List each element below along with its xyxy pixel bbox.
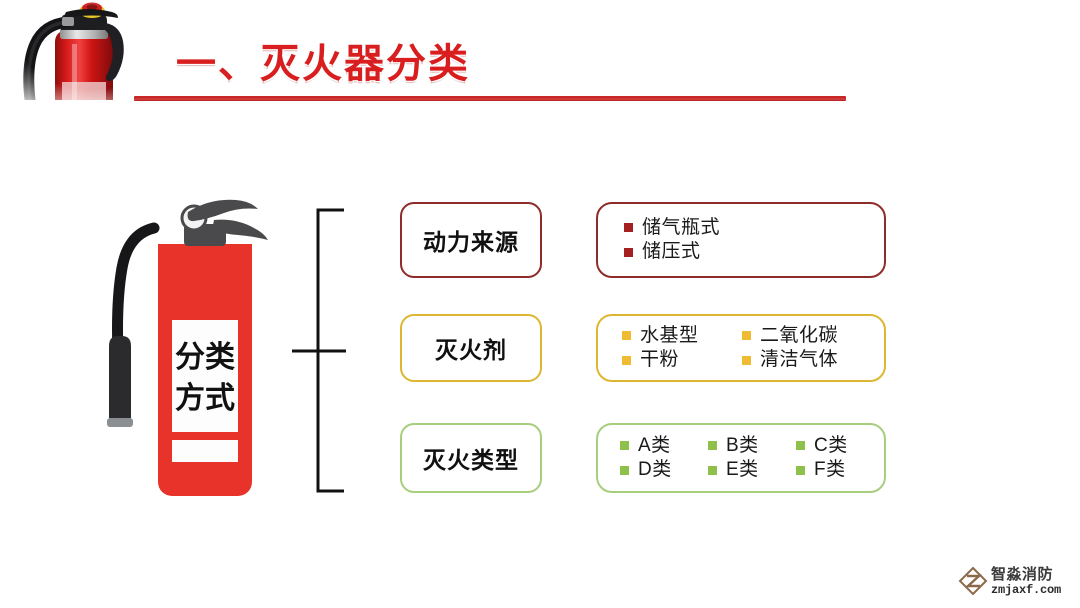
- list-item: 储气瓶式: [624, 217, 720, 239]
- brand-url: zmjaxf.com: [991, 584, 1061, 596]
- bullet-square-icon: [622, 331, 631, 340]
- category-box-extinguishing-agent[interactable]: 灭火剂: [400, 314, 542, 382]
- brand-name: 智淼消防: [991, 567, 1061, 582]
- list-item: D类: [620, 459, 708, 481]
- watermark-text: 智淼消防 zmjaxf.com: [991, 567, 1061, 596]
- bullet-square-icon: [742, 356, 751, 365]
- category-box-power-source[interactable]: 动力来源: [400, 202, 542, 278]
- item-label: B类: [726, 435, 759, 457]
- item-line: 储气瓶式: [624, 217, 872, 239]
- slide-canvas: 一、灭火器分类 分类 方式: [0, 0, 1080, 608]
- item-label: 储气瓶式: [642, 217, 720, 239]
- items-box-power-source: 储气瓶式 储压式: [596, 202, 886, 278]
- list-item: B类: [708, 435, 796, 457]
- item-label: C类: [814, 435, 848, 457]
- item-line: 干粉 清洁气体: [622, 349, 872, 371]
- header-divider: [134, 96, 846, 101]
- item-label: 二氧化碳: [760, 325, 838, 347]
- bullet-square-icon: [796, 466, 805, 475]
- list-item: 干粉: [622, 349, 742, 371]
- item-label: D类: [638, 459, 672, 481]
- category-label-fire-class: 灭火类型: [423, 441, 519, 475]
- bullet-square-icon: [708, 441, 717, 450]
- item-line: 储压式: [624, 241, 872, 263]
- item-label: E类: [726, 459, 759, 481]
- item-label: 水基型: [640, 325, 699, 347]
- page-title: 一、灭火器分类: [176, 44, 470, 84]
- category-box-fire-class[interactable]: 灭火类型: [400, 423, 542, 493]
- category-label-power-source: 动力来源: [423, 223, 519, 257]
- bullet-square-icon: [624, 223, 633, 232]
- bullet-square-icon: [620, 466, 629, 475]
- item-label: F类: [814, 459, 846, 481]
- slide-header: 一、灭火器分类: [0, 0, 1080, 118]
- classification-row-power-source: 动力来源 储气瓶式 储压式: [400, 202, 886, 278]
- extinguisher-illustration: 分类 方式 分类 方式: [96, 196, 282, 496]
- list-item: 水基型: [622, 325, 742, 347]
- item-label: A类: [638, 435, 671, 457]
- list-item: 二氧化碳: [742, 325, 838, 347]
- list-item: E类: [708, 459, 796, 481]
- list-item: 清洁气体: [742, 349, 838, 371]
- category-label-extinguishing-agent: 灭火剂: [435, 331, 507, 365]
- svg-text:分类: 分类: [175, 341, 235, 374]
- bullet-square-icon: [742, 331, 751, 340]
- item-line: D类 E类 F类: [620, 459, 872, 481]
- item-line: A类 B类 C类: [620, 435, 872, 457]
- list-item: F类: [796, 459, 846, 481]
- brand-logo-icon: [958, 566, 988, 596]
- bullet-square-icon: [622, 356, 631, 365]
- watermark: 智淼消防 zmjaxf.com: [958, 561, 1074, 601]
- item-label: 清洁气体: [760, 349, 838, 371]
- item-label: 干粉: [640, 349, 679, 371]
- list-item: 储压式: [624, 241, 701, 263]
- item-label: 储压式: [642, 241, 701, 263]
- list-item: C类: [796, 435, 848, 457]
- bullet-square-icon: [620, 441, 629, 450]
- svg-text:方式: 方式: [175, 381, 235, 415]
- classification-row-fire-class: 灭火类型 A类 B类 C类 D类: [400, 423, 886, 493]
- classification-row-extinguishing-agent: 灭火剂 水基型 二氧化碳 干粉 清洁气体: [400, 314, 886, 382]
- item-line: 水基型 二氧化碳: [622, 325, 872, 347]
- bullet-square-icon: [624, 248, 633, 257]
- list-item: A类: [620, 435, 708, 457]
- bullet-square-icon: [708, 466, 717, 475]
- grouping-bracket: [288, 208, 350, 493]
- fire-extinguisher-photo: [6, 0, 178, 100]
- bullet-square-icon: [796, 441, 805, 450]
- items-box-fire-class: A类 B类 C类 D类 E类: [596, 423, 886, 493]
- items-box-extinguishing-agent: 水基型 二氧化碳 干粉 清洁气体: [596, 314, 886, 382]
